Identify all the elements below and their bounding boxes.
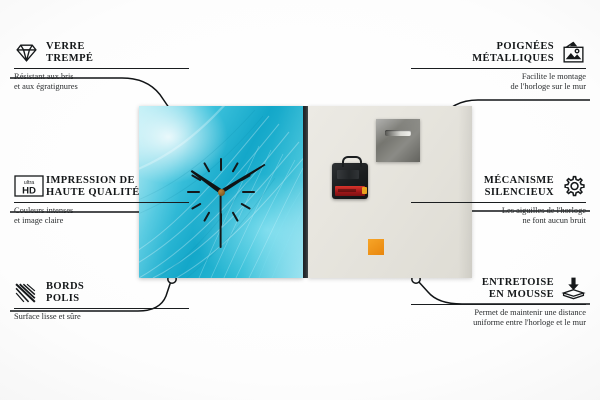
battery [335,186,365,196]
gear-icon [561,174,586,199]
polished-edges-icon [14,280,39,305]
callout-rule [411,304,586,305]
foam-spacer-icon [561,276,586,301]
diamond-icon [14,40,39,65]
svg-text:HD: HD [22,186,36,197]
callout-print-quality: ultra HD IMPRESSION DE HAUTE QUALITÉ Cou… [14,174,189,227]
callout-title: ENTRETOISE EN MOUSSE [482,277,554,301]
foam-spacer-shadow [373,244,389,260]
callout-title: MÉCANISME SILENCIEUX [484,175,554,199]
callout-subtitle: Surface lisse et sûre [14,312,189,322]
callout-foam-spacer: ENTRETOISE EN MOUSSE Permet de maintenir… [411,276,586,329]
callout-subtitle: Les aiguilles de l'horloge ne font aucun… [411,206,586,227]
movement-housing-detail [337,170,359,179]
callout-rule [411,68,586,69]
battery-positive-terminal [362,187,367,194]
callout-title: POIGNÉES MÉTALLIQUES [472,41,554,65]
callout-title: IMPRESSION DE HAUTE QUALITÉ [46,175,140,199]
clock-hub [218,189,225,196]
callout-silent-mechanism: MÉCANISME SILENCIEUX Les aiguilles de l'… [411,174,586,227]
callout-tempered-glass: VERRE TREMPÉ Résistant aux bris et aux é… [14,40,189,93]
clock-movement [332,163,368,199]
callout-metal-handles: POIGNÉES MÉTALLIQUES Facilite le montage… [411,40,586,93]
callout-subtitle: Résistant aux bris et aux égratignures [14,72,189,93]
clock-hand-second [220,192,222,248]
battery-label-band [338,189,356,192]
metal-hanger-plate [376,119,420,162]
picture-hanger-icon [561,40,586,65]
callout-subtitle: Couleurs intenses et image claire [14,206,189,227]
callout-subtitle: Facilite le montage de l'horloge sur le … [411,72,586,93]
ultra-hd-icon: ultra HD [14,174,39,199]
callout-rule [14,68,189,69]
foam-spacer-pad [368,239,384,255]
callout-rule [14,202,189,203]
callout-subtitle: Permet de maintenir une distance uniform… [411,308,586,329]
callout-title: BORDS POLIS [46,281,84,305]
infographic-canvas: VERRE TREMPÉ Résistant aux bris et aux é… [0,0,600,400]
callout-rule [14,308,189,309]
hanger-sheen [376,119,420,162]
movement-hanging-loop [342,156,362,167]
callout-polished-edges: BORDS POLIS Surface lisse et sûre [14,280,189,322]
callout-rule [411,202,586,203]
callout-title: VERRE TREMPÉ [46,41,93,65]
